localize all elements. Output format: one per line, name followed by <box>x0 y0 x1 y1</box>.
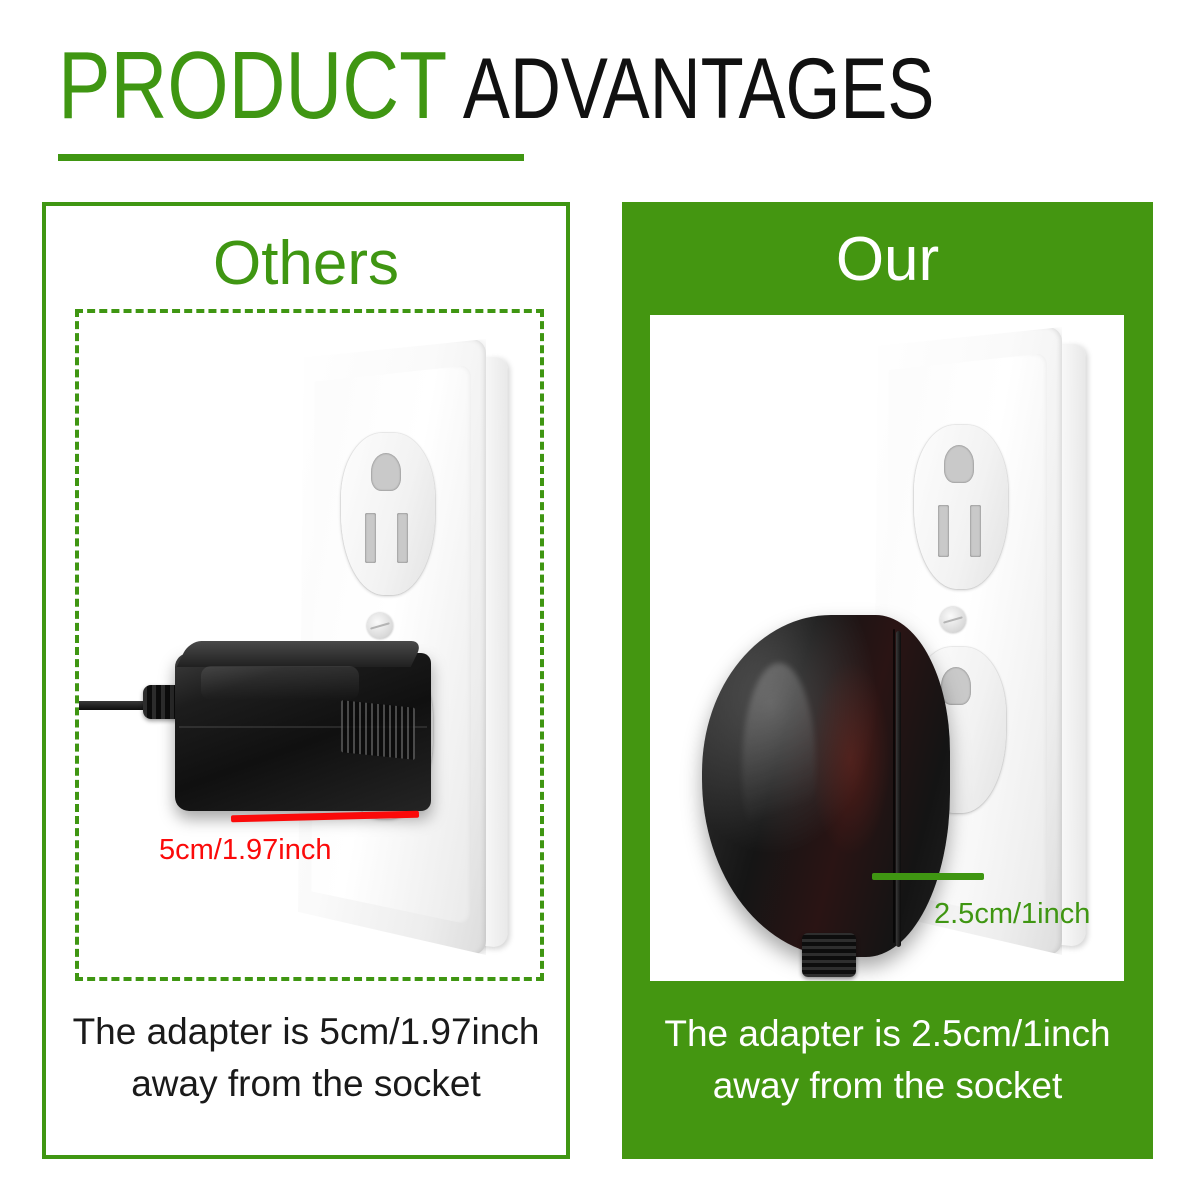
panel-our-heading: Our <box>622 224 1153 296</box>
adapter-vent-slots <box>341 700 415 760</box>
others-product-photo: 5cm/1.97inch <box>79 313 540 977</box>
measure-label-our: 2.5cm/1inch <box>934 897 1090 931</box>
panel-others: Others <box>42 202 570 1159</box>
title-underline <box>58 154 524 161</box>
panel-others-caption-line2: away from the socket <box>46 1058 566 1110</box>
socket-ground-hole-upper <box>944 445 974 483</box>
socket-ground-hole-lower <box>941 667 971 705</box>
adapter-highlight <box>742 663 816 875</box>
page-header: PRODUCT ADVANTAGES <box>58 36 1158 166</box>
panel-our-caption-line1: The adapter is 2.5cm/1inch <box>622 1008 1153 1060</box>
socket-slot-left-upper <box>365 513 376 563</box>
panel-others-image-area: 5cm/1.97inch <box>75 309 544 981</box>
panel-our: Our <box>622 202 1153 1159</box>
panel-others-caption: The adapter is 5cm/1.97inch away from th… <box>46 1006 566 1110</box>
socket-slot-right-upper <box>397 513 408 563</box>
page-title-rest: ADVANTAGES <box>447 41 934 137</box>
panel-our-caption-line2: away from the socket <box>622 1060 1153 1112</box>
outlet-socket-upper <box>914 425 1008 589</box>
adapter-slim-our <box>702 615 950 957</box>
adapter-strain-relief-our <box>802 933 856 977</box>
page-title-accent: PRODUCT <box>58 32 447 139</box>
panel-others-caption-line1: The adapter is 5cm/1.97inch <box>46 1006 566 1058</box>
socket-slot-left-upper <box>938 505 949 557</box>
socket-ground-hole-upper <box>371 453 401 491</box>
page-title: PRODUCT ADVANTAGES <box>58 36 960 139</box>
measure-line-our <box>872 873 984 880</box>
socket-slot-right-upper <box>970 505 981 557</box>
outlet-socket-upper <box>341 433 435 595</box>
outlet-center-screw <box>367 613 393 639</box>
panel-our-caption: The adapter is 2.5cm/1inch away from the… <box>622 1008 1153 1112</box>
panel-our-image-area: 2.5cm/1inch <box>650 315 1124 981</box>
adapter-highlight <box>201 666 360 701</box>
adapter-top-face <box>177 641 424 667</box>
adapter-warm-reflection <box>811 663 890 855</box>
adapter-cable-our <box>896 631 901 947</box>
panel-others-heading: Others <box>46 228 566 300</box>
our-product-photo: 2.5cm/1inch <box>650 315 1124 981</box>
adapter-bulky-others <box>175 653 431 811</box>
outlet-center-screw <box>940 607 966 633</box>
measure-label-others: 5cm/1.97inch <box>159 833 332 867</box>
